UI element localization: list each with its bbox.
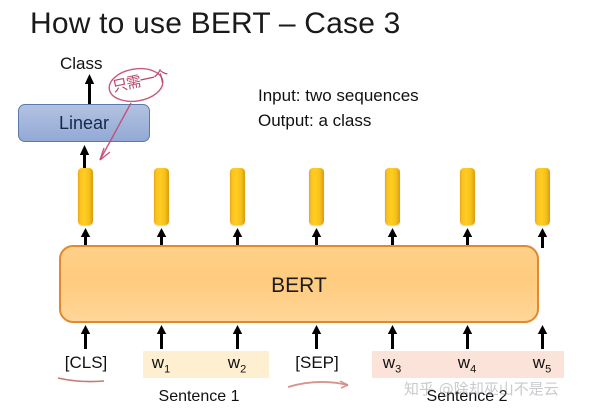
input-token-sep-label: [SEP] [295, 353, 338, 372]
arrow-bert-out-w5 [537, 228, 548, 248]
linear-layer-label: Linear [19, 113, 149, 134]
slide-canvas: How to use BERT – Case 3 Class Linear In… [0, 0, 600, 414]
input-token-w5-sub: 5 [545, 363, 551, 375]
ink-arrow-head [100, 148, 110, 160]
sentence-1-caption: Sentence 1 [139, 388, 259, 406]
arrow-linear-to-class [84, 74, 95, 104]
input-token-w1-sub: 1 [164, 363, 170, 375]
output-bar-w3 [385, 168, 400, 225]
input-token-w3: w3 [372, 353, 412, 375]
input-token-w5: w5 [522, 353, 562, 375]
input-description: Input: two sequences [258, 84, 419, 109]
input-token-w2-label: w [228, 353, 240, 372]
input-token-w3-label: w [383, 353, 395, 372]
arrow-in-w1 [156, 325, 167, 349]
page-title: How to use BERT – Case 3 [30, 7, 401, 41]
input-token-cls-label: [CLS] [65, 353, 108, 372]
output-description: Output: a class [258, 109, 419, 134]
input-token-w4: w4 [447, 353, 487, 375]
output-bar-w2 [230, 168, 245, 225]
arrow-in-w3 [387, 325, 398, 349]
output-bar-sep [309, 168, 324, 225]
watermark: 知乎 @除却巫山不是云 [404, 378, 559, 399]
output-bar-w5 [535, 168, 550, 225]
input-token-cls: [CLS] [55, 353, 117, 373]
arrow-in-w4 [462, 325, 473, 349]
input-token-w1-label: w [152, 353, 164, 372]
input-token-w5-label: w [533, 353, 545, 372]
output-bar-cls [78, 168, 93, 225]
class-output-label: Class [60, 54, 103, 74]
input-token-w2: w2 [217, 353, 257, 375]
ink-underline-sep [288, 382, 348, 387]
bert-encoder-box[interactable]: BERT [59, 245, 539, 323]
arrow-in-w2 [232, 325, 243, 349]
arrow-in-cls [80, 325, 91, 349]
io-description-block: Input: two sequences Output: a class [258, 84, 419, 133]
bert-encoder-label: BERT [61, 274, 537, 298]
input-token-w4-label: w [458, 353, 470, 372]
ink-underline-cls [58, 378, 104, 382]
input-token-w3-sub: 3 [395, 363, 401, 375]
ink-note-text: 只需一个 [110, 64, 169, 96]
input-token-w1: w1 [141, 353, 181, 375]
input-token-w4-sub: 4 [470, 363, 476, 375]
output-bar-w4 [460, 168, 475, 225]
input-token-sep: [SEP] [286, 353, 348, 373]
output-bar-w1 [154, 168, 169, 225]
linear-layer-box[interactable]: Linear [18, 104, 150, 142]
ink-underline-sep-tip [340, 381, 348, 388]
input-token-w2-sub: 2 [240, 363, 246, 375]
arrow-in-sep [311, 325, 322, 349]
arrow-in-w5 [537, 325, 548, 349]
